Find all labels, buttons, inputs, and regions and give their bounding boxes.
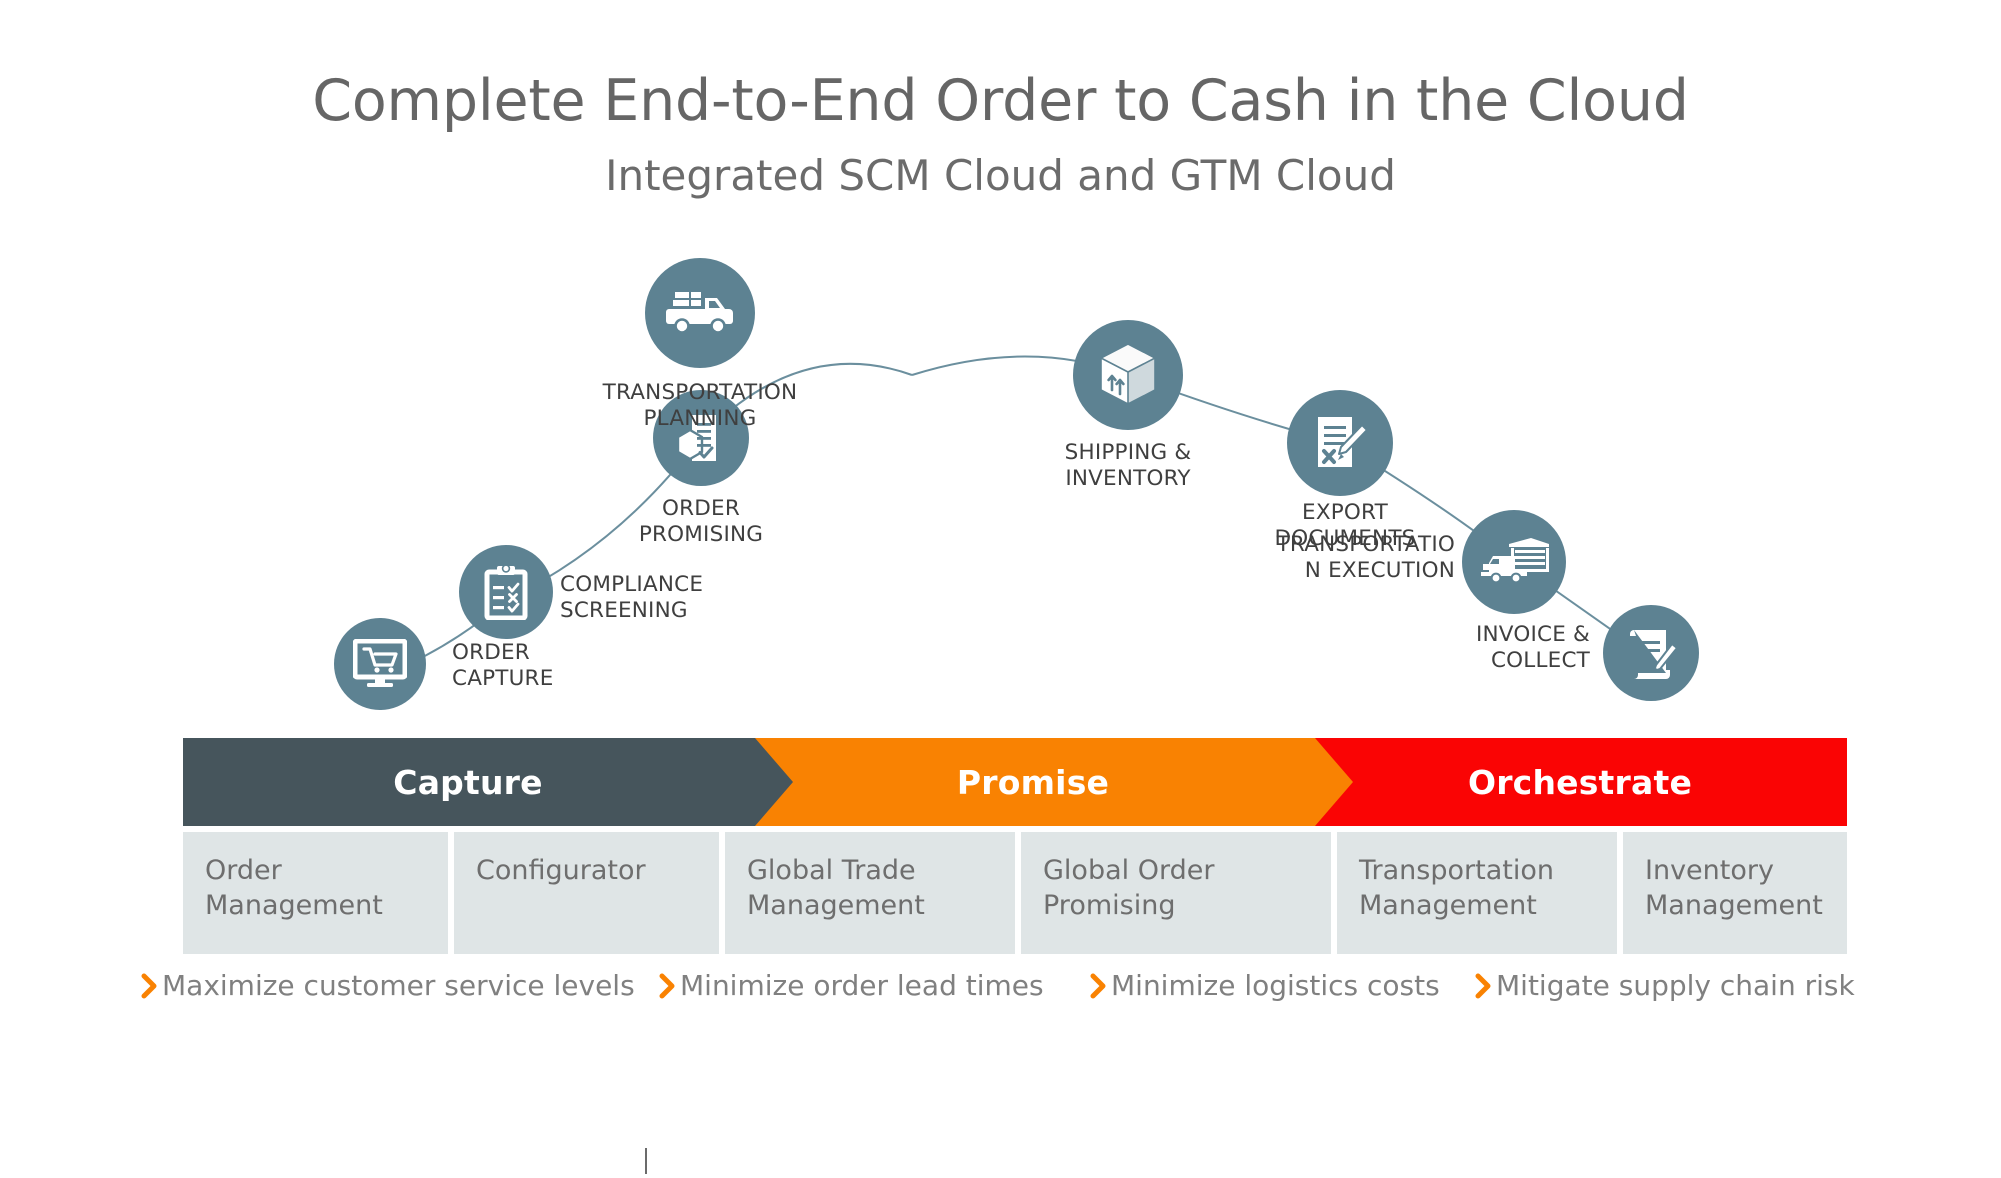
document-pen-x-icon [1310, 413, 1370, 473]
product-cell-transportation-management[interactable]: Transportation Management [1337, 832, 1617, 954]
product-grid: Order Management Configurator Global Tra… [183, 832, 1847, 954]
phase-label-capture: Capture [393, 763, 542, 802]
product-name: Order Management [205, 854, 448, 923]
product-cell-global-trade-management[interactable]: Global Trade Management [725, 832, 1015, 954]
product-cell-order-management[interactable]: Order Management [183, 832, 448, 954]
pickup-truck-icon [665, 288, 735, 338]
chevron-right-icon [1089, 972, 1109, 1000]
node-transportation-planning[interactable] [645, 258, 755, 368]
product-cell-configurator[interactable]: Configurator [454, 832, 719, 954]
product-name: Global Trade Management [747, 854, 1015, 923]
benefits-list: Maximize customer service levels Minimiz… [140, 972, 1900, 1020]
node-label-compliance-screening: COMPLIANCE SCREENING [560, 572, 800, 624]
node-label-transportation-planning: TRANSPORTATION PLANNING [570, 380, 830, 432]
invoice-pen-icon [1622, 624, 1680, 682]
node-compliance-screening[interactable] [459, 545, 553, 639]
benefit-item: Minimize order lead times [658, 972, 1044, 1000]
node-label-shipping-inventory: SHIPPING & INVENTORY [1003, 440, 1253, 492]
product-cell-global-order-promising[interactable]: Global Order Promising [1021, 832, 1331, 954]
title-block: Complete End-to-End Order to Cash in the… [0, 72, 2001, 198]
product-name: Configurator [476, 854, 719, 889]
monitor-cart-icon [353, 639, 407, 689]
product-cell-inventory-management[interactable]: Inventory Management [1623, 832, 1847, 954]
phase-segment-capture[interactable]: Capture [183, 738, 753, 826]
node-export-documents[interactable] [1287, 390, 1393, 496]
process-flow-diagram: ORDER CAPTURE COMPLIANCE SCREENING [0, 300, 2001, 730]
node-shipping-inventory[interactable] [1073, 320, 1183, 430]
benefit-text: Minimize order lead times [680, 972, 1044, 1000]
chevron-notch-promise-icon [753, 738, 793, 826]
benefit-item: Minimize logistics costs [1089, 972, 1440, 1000]
chevron-notch-orchestrate-icon [1313, 738, 1353, 826]
phase-label-promise: Promise [957, 763, 1109, 802]
node-label-order-promising: ORDER PROMISING [601, 496, 801, 548]
benefit-text: Minimize logistics costs [1111, 972, 1440, 1000]
benefit-text: Mitigate supply chain risk [1496, 972, 1855, 1000]
benefit-text: Maximize customer service levels [162, 972, 635, 1000]
node-invoice-collect[interactable] [1603, 605, 1699, 701]
chevron-right-icon [140, 972, 160, 1000]
node-transportation-execution[interactable] [1462, 510, 1566, 614]
clipboard-checklist-icon [481, 564, 531, 620]
footer-tick-mark [645, 1148, 647, 1174]
node-order-capture[interactable] [334, 618, 426, 710]
chevron-right-icon [1474, 972, 1494, 1000]
node-label-order-capture: ORDER CAPTURE [452, 640, 672, 692]
phase-segment-orchestrate[interactable]: Orchestrate [1313, 738, 1847, 826]
phase-label-orchestrate: Orchestrate [1468, 763, 1692, 802]
page-title: Complete End-to-End Order to Cash in the… [0, 72, 2001, 132]
node-label-invoice-collect: INVOICE & COLLECT [1400, 622, 1590, 674]
node-label-transportation-execution: TRANSPORTATIO N EXECUTION [1170, 532, 1455, 584]
page-subtitle: Integrated SCM Cloud and GTM Cloud [0, 154, 2001, 198]
product-name: Global Order Promising [1043, 854, 1331, 923]
arc-connector-lines [0, 300, 2001, 730]
phase-banner: Capture Promise Orchestrate [183, 738, 1847, 826]
product-name: Inventory Management [1645, 854, 1847, 923]
benefit-item: Maximize customer service levels [140, 972, 635, 1000]
truck-warehouse-icon [1479, 538, 1549, 586]
chevron-right-icon [658, 972, 678, 1000]
benefit-item: Mitigate supply chain risk [1474, 972, 1855, 1000]
phase-segment-promise[interactable]: Promise [753, 738, 1313, 826]
product-name: Transportation Management [1359, 854, 1617, 923]
shipping-box-icon [1097, 342, 1159, 408]
